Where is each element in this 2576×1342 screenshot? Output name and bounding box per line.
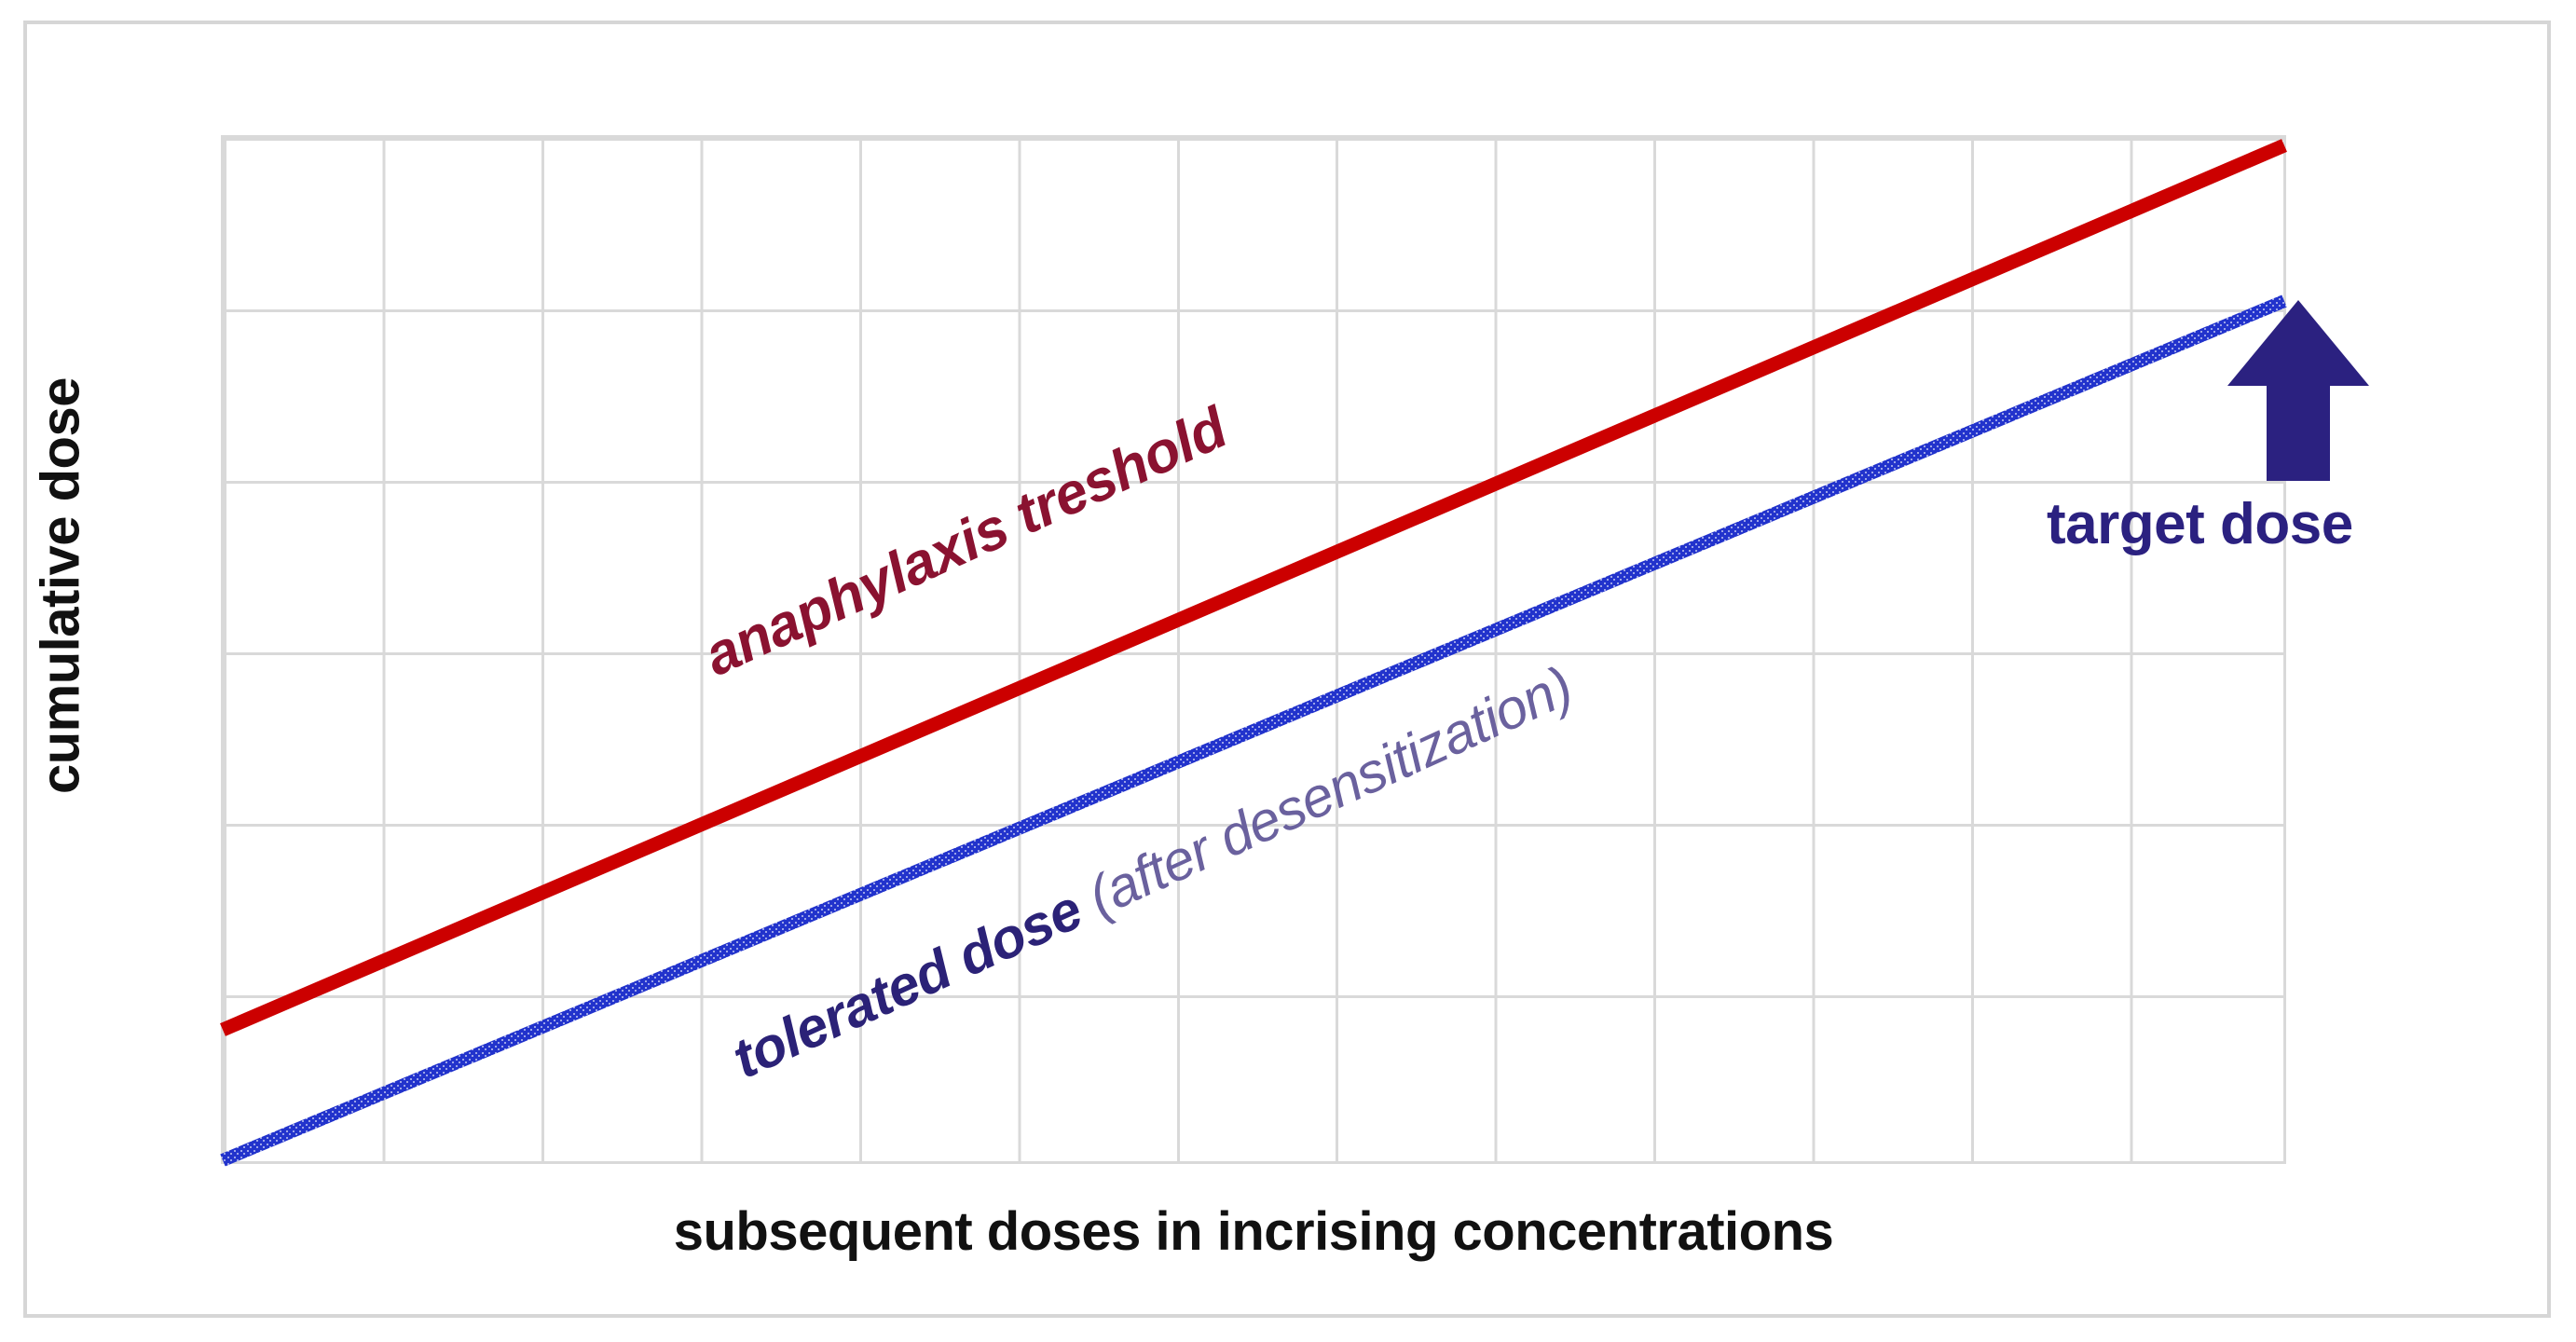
y-axis-title: cumulative dose xyxy=(30,372,92,801)
target-dose-arrow-icon xyxy=(2224,296,2373,483)
desensitization-dose-chart: anaphylaxis treshold tolerated dose (aft… xyxy=(0,0,2576,1342)
anaphylaxis-threshold-line xyxy=(223,145,2284,1030)
target-dose-label: target dose xyxy=(2047,491,2353,557)
x-axis-title: subsequent doses in incrising concentrat… xyxy=(221,1200,2286,1263)
tolerated-dose-line xyxy=(223,301,2284,1160)
plot-lines xyxy=(221,135,2286,1164)
